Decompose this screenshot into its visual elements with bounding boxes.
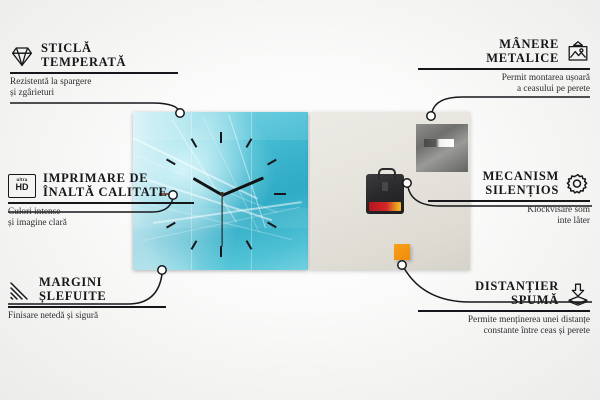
callout-title: MARGINI ȘLEFUITE [39, 276, 106, 303]
callout-metal-handles: MÂNERE METALICE Permit montarea ușoară a… [418, 38, 590, 95]
clock-hub [220, 192, 224, 196]
callout-title: MECANISM SILENȚIOS [483, 170, 559, 197]
callout-desc: Finisare netedă și sigură [8, 311, 168, 322]
callout-rule [418, 68, 590, 70]
callout-tempered-glass: STICLĂ TEMPERATĂ Rezistentă la spargere … [10, 42, 180, 99]
movement-loop [378, 168, 396, 180]
movement-shaft [382, 182, 388, 191]
infographic-stage: STICLĂ TEMPERATĂ Rezistentă la spargere … [0, 0, 600, 400]
callout-desc: Permit montarea ușoară a ceasului pe per… [418, 73, 590, 95]
clock-tick [166, 159, 175, 165]
callout-foam-spacer: DISTANȚIER SPUMĂ Permite menținerea unei… [418, 280, 590, 337]
callout-rule [8, 202, 194, 204]
callout-desc: Culori intense și imagine clară [8, 207, 198, 229]
callout-desc: Klockvisare som inte låter [428, 205, 590, 227]
diamond-icon [10, 44, 34, 68]
callout-title: STICLĂ TEMPERATĂ [41, 42, 126, 69]
clock-tick [267, 159, 276, 165]
metal-hanger-plate [416, 124, 468, 172]
clock-tick [220, 132, 222, 143]
callout-silent-mechanism: MECANISM SILENȚIOS Klockvisare som inte … [428, 170, 590, 227]
callout-desc: Permite menținerea unei distanțe constan… [418, 315, 590, 337]
callout-hd-print: ultraHD IMPRIMARE DE ÎNALTĂ CALITATE Cul… [8, 172, 198, 229]
clock-tick [274, 193, 286, 195]
second-hand [221, 195, 222, 247]
spacer-arrow-icon [566, 282, 590, 306]
callout-title: MÂNERE METALICE [486, 38, 559, 65]
minute-hand [221, 176, 264, 196]
picture-frame-hanger-icon [566, 40, 590, 64]
callout-polished-edges: MARGINI ȘLEFUITE Finisare netedă și sigu… [8, 276, 168, 322]
callout-rule [418, 310, 590, 312]
callout-title: DISTANȚIER SPUMĂ [475, 280, 559, 307]
gear-icon [566, 172, 590, 196]
callout-rule [10, 72, 178, 74]
quartz-movement [366, 174, 404, 214]
battery [369, 202, 401, 211]
callout-rule [8, 306, 166, 308]
polished-edge-icon [8, 278, 32, 302]
callout-title: IMPRIMARE DE ÎNALTĂ CALITATE [43, 172, 168, 199]
orange-foam-spacer [394, 244, 410, 260]
callout-rule [428, 200, 590, 202]
ultra-hd-badge-icon: ultraHD [8, 174, 36, 198]
clock-tick [220, 246, 222, 257]
hanger-slot [424, 139, 454, 147]
leader-metal-handles [432, 97, 590, 112]
callout-desc: Rezistentă la spargere și zgârieturi [10, 77, 180, 99]
